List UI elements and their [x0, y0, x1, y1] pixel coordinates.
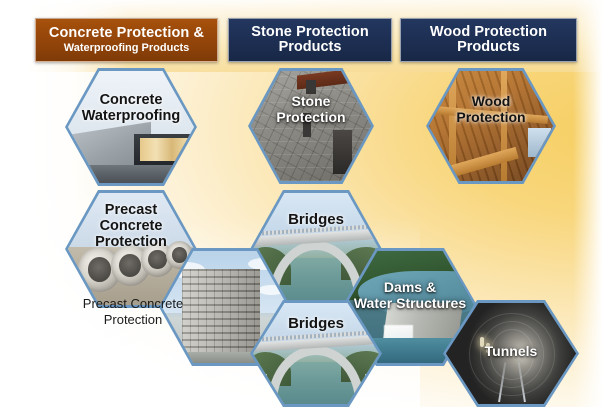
caption-precast-concrete-protection: Precast Concrete Protection: [48, 296, 218, 328]
background-right-edge: [573, 0, 611, 407]
stone-wall-photo: [251, 71, 371, 181]
caption-line1: Precast Concrete: [48, 296, 218, 312]
banner-stone-protection[interactable]: Stone Protection Products: [228, 18, 392, 62]
wood-framing-photo: [429, 71, 553, 181]
banner-wood-line1: Wood Protection: [430, 25, 547, 40]
diagram-canvas: Concrete Protection & Waterproofing Prod…: [0, 0, 611, 407]
hexagon-tunnels-image: [446, 303, 576, 404]
banner-concrete-line1: Concrete Protection &: [49, 26, 204, 41]
banner-wood-protection[interactable]: Wood Protection Products: [400, 18, 577, 62]
banner-concrete-line2: Waterproofing Products: [64, 43, 189, 55]
banner-concrete-protection[interactable]: Concrete Protection & Waterproofing Prod…: [35, 18, 218, 62]
hexagon-wood-protection-image: [429, 71, 553, 181]
banner-wood-line2: Products: [457, 40, 520, 55]
banner-stone-line2: Products: [279, 40, 342, 55]
caption-line2: Protection: [48, 312, 218, 328]
tunnel-photo: [446, 303, 576, 404]
bridge-arch-photo: [253, 303, 379, 404]
hexagon-stone-protection-image: [251, 71, 371, 181]
hexagon-bridges-lower-image: [253, 303, 379, 404]
banner-stone-line1: Stone Protection: [251, 25, 369, 40]
